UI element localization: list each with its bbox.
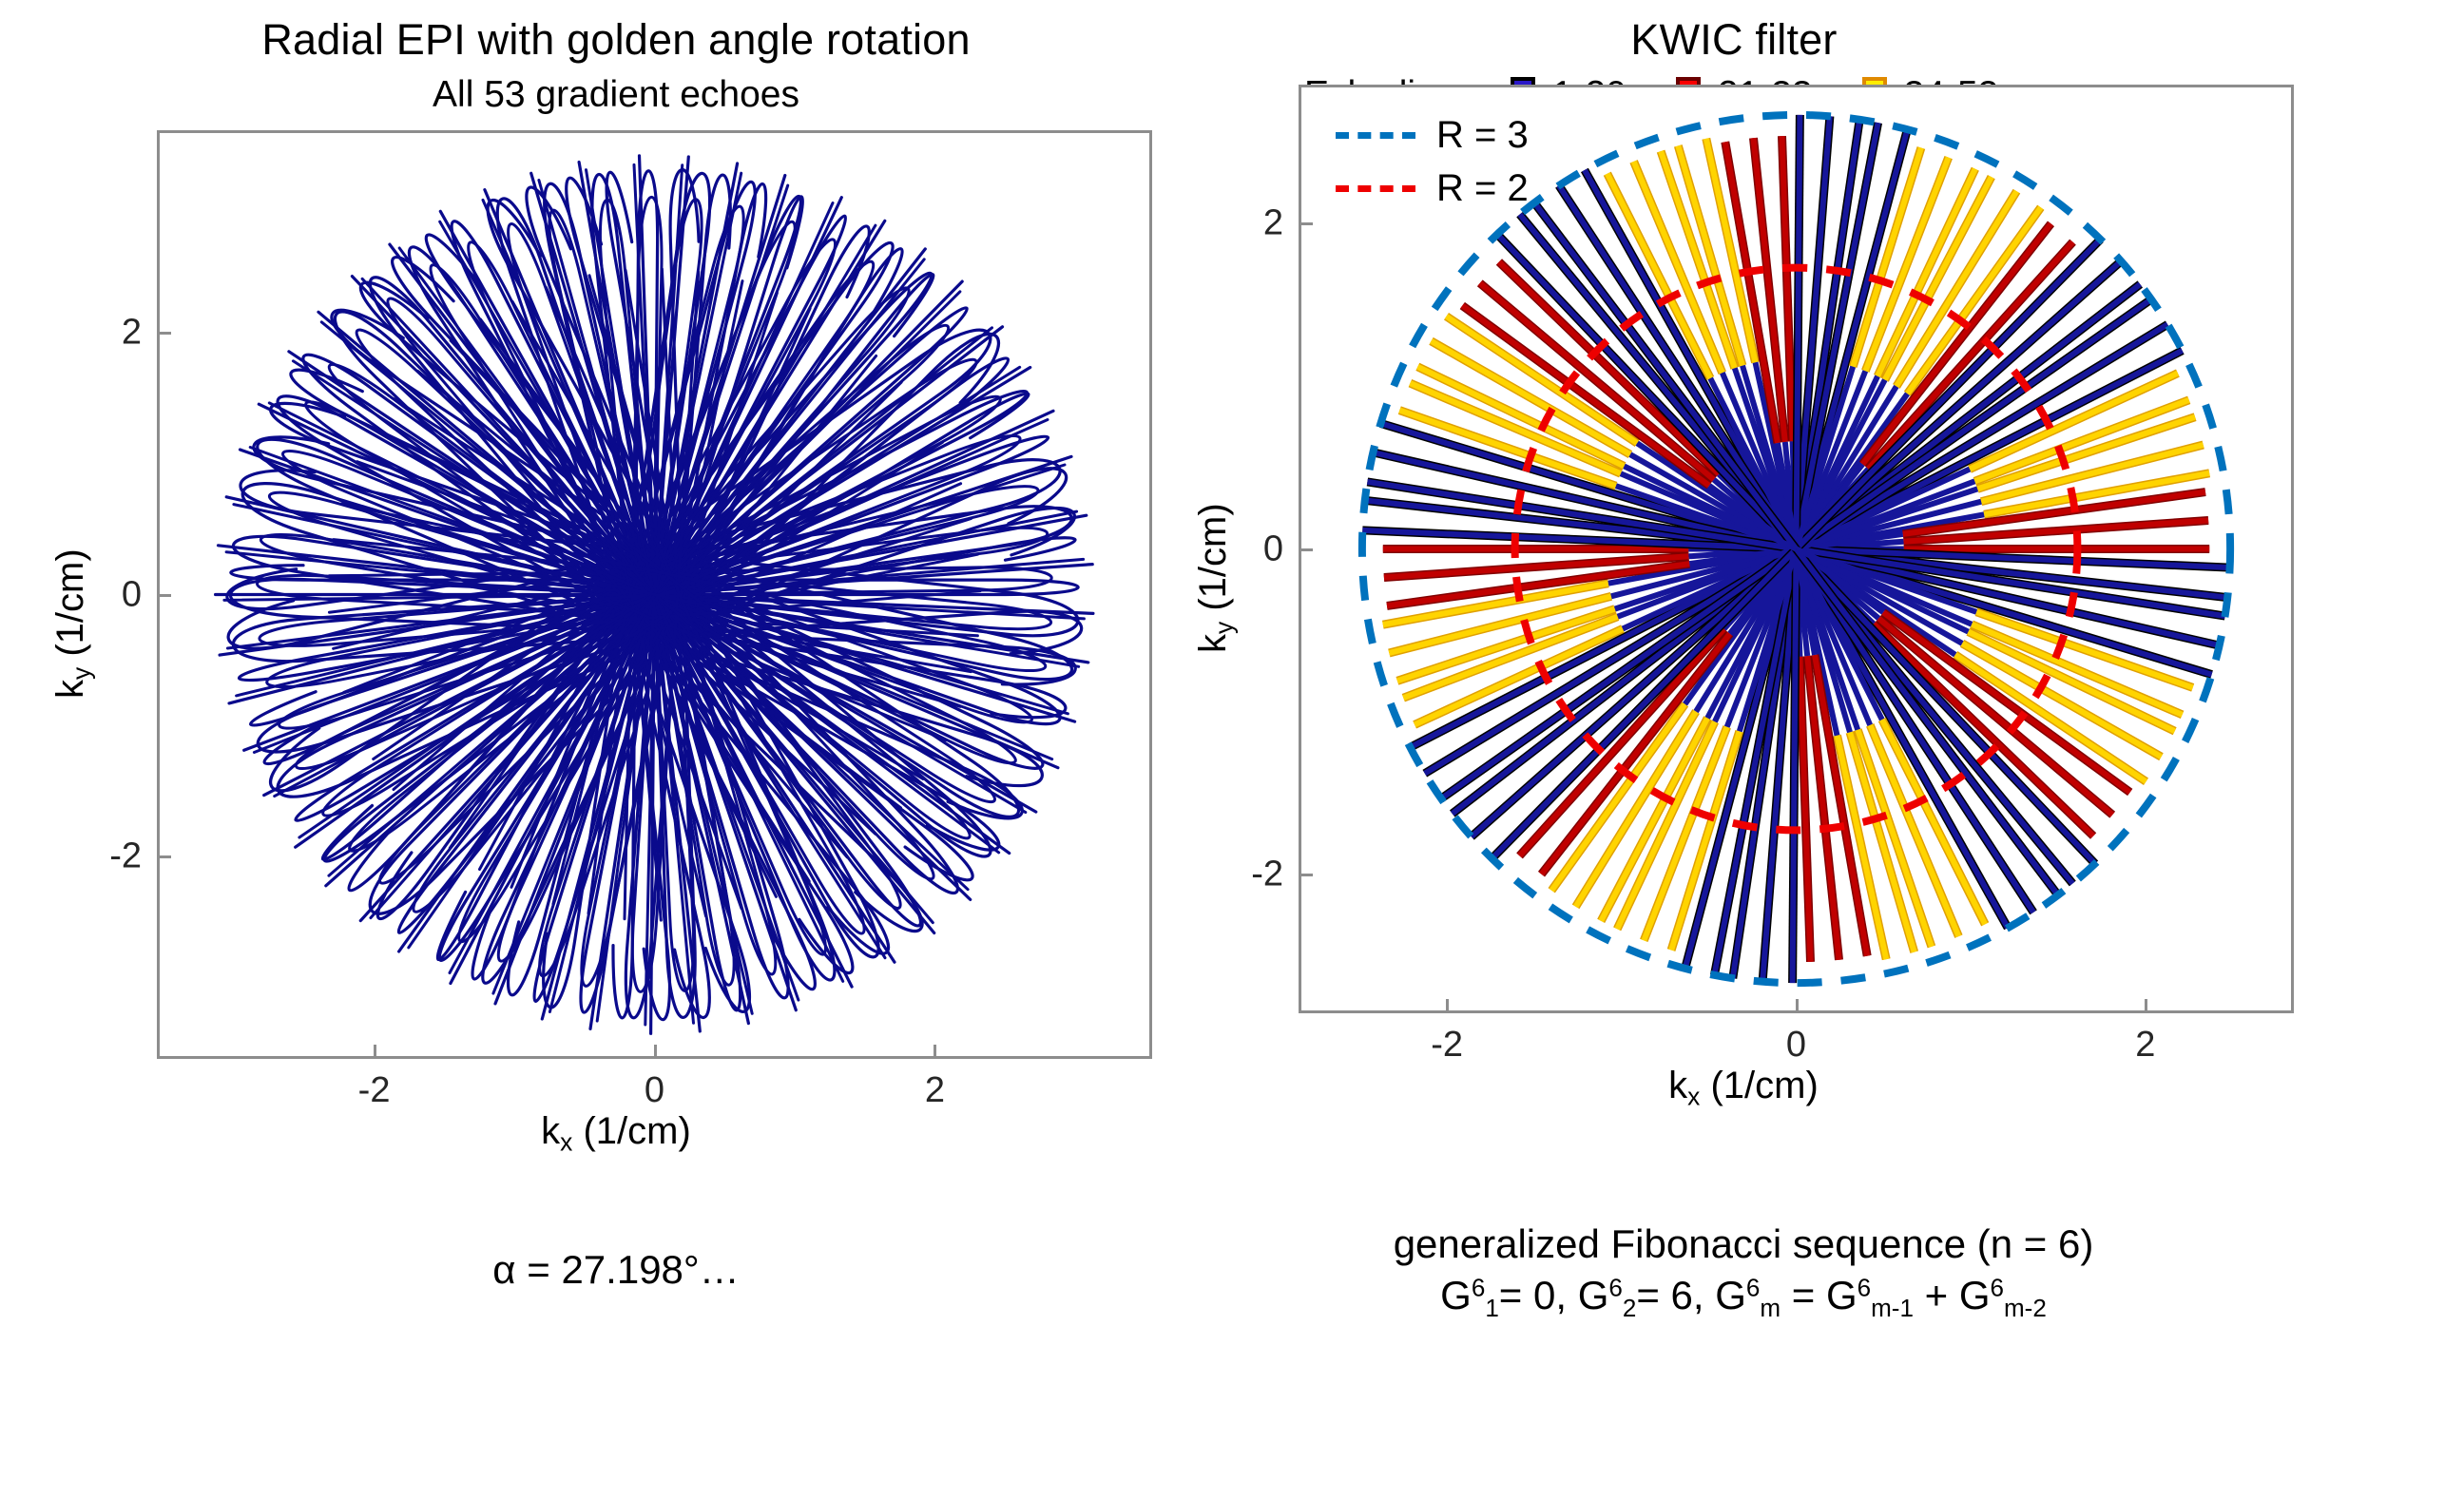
right-xaxis-label: kx (1/cm) bbox=[1127, 1065, 2359, 1111]
ring-legend-dash-1 bbox=[1336, 132, 1415, 139]
right-figure-panel: KWIC filter Echo lines: 1-2021-3334-53 R… bbox=[1232, 0, 2464, 1499]
fib-symbol: G bbox=[1440, 1273, 1472, 1317]
fib-superscript: 6 bbox=[1991, 1273, 2004, 1301]
left-xaxis-label-unit: (1/cm) bbox=[572, 1110, 690, 1152]
left-ytick-label-0: -2 bbox=[83, 836, 142, 876]
right-yaxis-label: ky (1/cm) bbox=[1192, 503, 1239, 653]
right-ytick-0 bbox=[1299, 874, 1313, 876]
fib-superscript: 6 bbox=[1746, 1273, 1760, 1301]
right-panel-caption-formula: G61= 0, G62= 6, G6m = G6m-1 + G6m-2 bbox=[1127, 1271, 2359, 1324]
right-xtick-label-0: -2 bbox=[1431, 1025, 1463, 1066]
right-ytick-label-2: 2 bbox=[1224, 202, 1283, 243]
left-yaxis-label-sub: y bbox=[67, 667, 95, 680]
right-xtick-label-2: 2 bbox=[2135, 1025, 2155, 1066]
right-xtick-label-1: 0 bbox=[1786, 1025, 1806, 1066]
fib-superscript: 6 bbox=[1858, 1273, 1871, 1301]
fib-subscript: m-2 bbox=[2004, 1294, 2047, 1322]
left-yaxis-label: ky (1/cm) bbox=[49, 548, 96, 699]
left-xtick-2 bbox=[934, 1045, 936, 1058]
left-xaxis-label-sub: x bbox=[560, 1127, 572, 1156]
kwic-filter-plot-area bbox=[1301, 87, 2291, 1010]
left-ytick-2 bbox=[158, 332, 171, 335]
right-panel-caption-line1: generalized Fibonacci sequence (n = 6) bbox=[1127, 1220, 2359, 1268]
radial-epi-plot-area bbox=[160, 133, 1149, 1056]
left-xtick-0 bbox=[374, 1045, 376, 1058]
left-ytick-1 bbox=[158, 594, 171, 597]
left-ytick-label-2: 2 bbox=[83, 313, 142, 354]
right-ytick-2 bbox=[1299, 222, 1313, 225]
fib-subscript: 1 bbox=[1485, 1294, 1498, 1322]
fib-subscript: 2 bbox=[1623, 1294, 1636, 1322]
right-yaxis-label-unit: (1/cm) bbox=[1192, 503, 1234, 621]
ring-legend-label-1: R = 3 bbox=[1436, 114, 1529, 157]
acceleration-ring-legend: R = 3R = 2 bbox=[1336, 108, 1529, 215]
right-yaxis-label-main: k bbox=[1192, 634, 1234, 653]
radial-epi-traces bbox=[216, 156, 1093, 1033]
fib-superscript: 6 bbox=[1608, 1273, 1622, 1301]
right-xaxis-label-sub: x bbox=[1687, 1082, 1700, 1110]
fib-operator: = bbox=[1781, 1273, 1826, 1317]
ring-legend-dash-2 bbox=[1336, 185, 1415, 192]
left-xaxis-label-main: k bbox=[541, 1110, 560, 1152]
fib-operator: = 0, bbox=[1499, 1273, 1578, 1317]
fib-subscript: m-1 bbox=[1871, 1294, 1914, 1322]
right-yaxis-label-sub: y bbox=[1209, 622, 1238, 634]
left-xtick-label-1: 0 bbox=[645, 1070, 664, 1111]
right-xaxis-label-unit: (1/cm) bbox=[1700, 1065, 1818, 1106]
left-yaxis-label-main: k bbox=[49, 680, 91, 699]
fib-symbol: G bbox=[1826, 1273, 1858, 1317]
right-xtick-0 bbox=[1446, 999, 1449, 1012]
left-ytick-0 bbox=[158, 855, 171, 858]
left-xtick-1 bbox=[654, 1045, 657, 1058]
left-xtick-label-0: -2 bbox=[358, 1070, 391, 1111]
fib-operator: = 6, bbox=[1636, 1273, 1715, 1317]
left-panel-subtitle: All 53 gradient echoes bbox=[0, 74, 1232, 116]
right-xaxis-label-main: k bbox=[1668, 1065, 1687, 1106]
kwic-spokes bbox=[1362, 115, 2229, 983]
left-yaxis-label-unit: (1/cm) bbox=[49, 548, 91, 666]
right-ytick-1 bbox=[1299, 548, 1313, 551]
left-panel-caption: α = 27.198°… bbox=[0, 1245, 1232, 1294]
left-figure-panel: Radial EPI with golden angle rotation Al… bbox=[0, 0, 1232, 1499]
left-xtick-label-2: 2 bbox=[925, 1070, 945, 1111]
radial-epi-axes bbox=[157, 130, 1152, 1059]
right-panel-title: KWIC filter bbox=[1118, 15, 2350, 65]
fib-symbol: G bbox=[1959, 1273, 1991, 1317]
ring-legend-label-2: R = 2 bbox=[1436, 167, 1529, 210]
right-xtick-2 bbox=[2145, 999, 2147, 1012]
right-xtick-1 bbox=[1796, 999, 1799, 1012]
fib-operator: + bbox=[1914, 1273, 1959, 1317]
fib-subscript: m bbox=[1760, 1294, 1781, 1322]
left-panel-title: Radial EPI with golden angle rotation bbox=[0, 15, 1232, 65]
ring-legend-row-1: R = 3 bbox=[1336, 108, 1529, 162]
right-ytick-label-0: -2 bbox=[1224, 855, 1283, 895]
kwic-spoke bbox=[1797, 115, 1800, 549]
kwic-filter-axes: R = 3R = 2 bbox=[1299, 85, 2294, 1013]
fib-symbol: G bbox=[1715, 1273, 1746, 1317]
ring-legend-row-2: R = 2 bbox=[1336, 162, 1529, 215]
left-xaxis-label: kx (1/cm) bbox=[0, 1110, 1232, 1157]
fib-symbol: G bbox=[1578, 1273, 1609, 1317]
kwic-spoke bbox=[1793, 549, 1797, 984]
fib-superscript: 6 bbox=[1472, 1273, 1485, 1301]
